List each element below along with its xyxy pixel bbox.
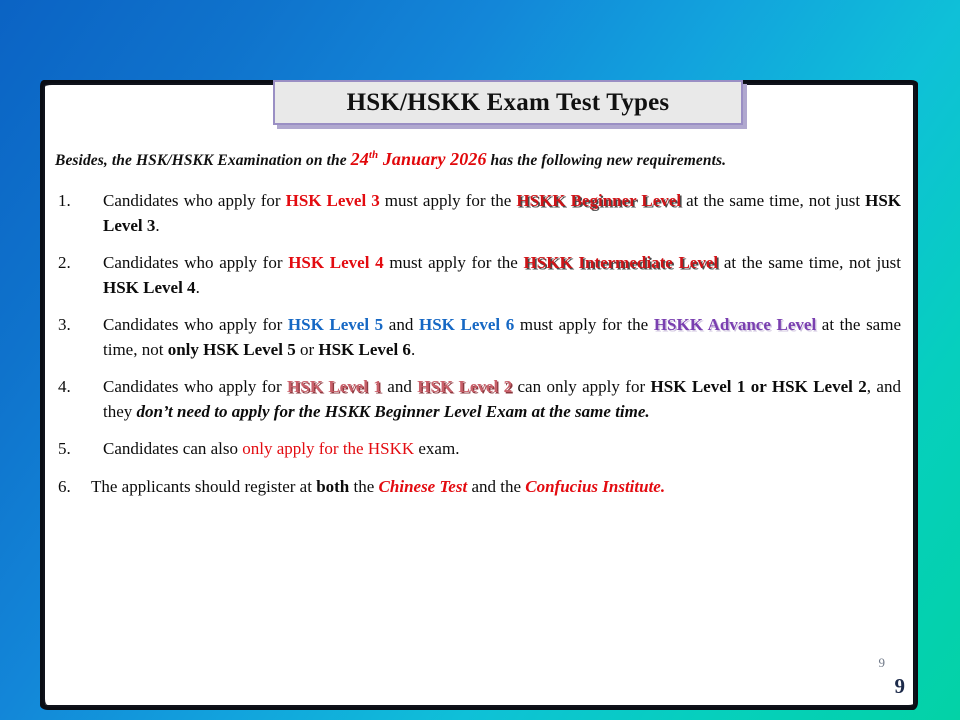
text-run: and the bbox=[467, 477, 525, 496]
date-rest: January 2026 bbox=[378, 149, 486, 169]
text-run: must apply for the bbox=[380, 191, 517, 210]
text-run: Candidates who apply for bbox=[103, 253, 288, 272]
text-run: the bbox=[349, 477, 378, 496]
date-ordinal-suffix: th bbox=[369, 149, 378, 161]
text-run: Candidates who apply for bbox=[103, 377, 287, 396]
page-number-small: 9 bbox=[879, 655, 886, 671]
list-item-text: Candidates who apply for HSK Level 1 and… bbox=[103, 375, 901, 424]
requirements-list: 1.Candidates who apply for HSK Level 3 m… bbox=[55, 189, 901, 499]
text-run: at the same time, not just bbox=[681, 191, 865, 210]
text-run: exam. bbox=[414, 439, 459, 458]
list-item: 5.Candidates can also only apply for the… bbox=[55, 437, 901, 462]
text-run: both bbox=[316, 477, 349, 496]
text-run: and bbox=[382, 377, 417, 396]
list-item: 6.The applicants should register at both… bbox=[55, 475, 901, 500]
text-run: must apply for the bbox=[514, 315, 654, 334]
intro-before: Besides, the HSK/HSKK Examination on the bbox=[55, 152, 351, 169]
list-item-text: Candidates who apply for HSK Level 5 and… bbox=[103, 313, 901, 362]
text-run: Chinese Test bbox=[379, 477, 468, 496]
text-run: Candidates who apply for bbox=[103, 191, 286, 210]
text-run: The applicants should register at bbox=[91, 477, 316, 496]
slide-title-plate: HSK/HSKK Exam Test Types bbox=[273, 80, 743, 125]
text-run: HSKK Beginner Level bbox=[516, 191, 681, 210]
text-run: HSK Level 6 bbox=[419, 315, 514, 334]
slide-body: Besides, the HSK/HSKK Examination on the… bbox=[55, 145, 901, 512]
list-item-number: 1. bbox=[55, 189, 103, 238]
text-run: and bbox=[383, 315, 419, 334]
text-run: Confucius Institute. bbox=[525, 477, 665, 496]
text-run: HSKK Advance Level bbox=[654, 315, 816, 334]
text-run: . bbox=[196, 278, 200, 297]
text-run: HSK Level 5 bbox=[288, 315, 383, 334]
text-run: HSK Level 5 bbox=[203, 340, 296, 359]
text-run: . bbox=[411, 340, 415, 359]
text-run: HSK Level 4 bbox=[288, 253, 383, 272]
text-run: HSK Level 3 bbox=[286, 191, 380, 210]
text-run: . bbox=[155, 216, 159, 235]
list-item: 3.Candidates who apply for HSK Level 5 a… bbox=[55, 313, 901, 362]
date-number: 24 bbox=[351, 149, 369, 169]
slide-card: HSK/HSKK Exam Test Types Besides, the HS… bbox=[45, 85, 913, 705]
text-run: can only apply for bbox=[512, 377, 650, 396]
list-item-number: 2. bbox=[55, 251, 103, 300]
text-run: only bbox=[168, 340, 199, 359]
text-run: HSK Level 6 bbox=[318, 340, 411, 359]
text-run: Candidates can also bbox=[103, 439, 242, 458]
text-run: only apply for the HSKK bbox=[242, 439, 414, 458]
page-title: HSK/HSKK Exam Test Types bbox=[347, 89, 670, 117]
intro-after: has the following new requirements. bbox=[487, 152, 727, 169]
text-run: HSK Level 1 bbox=[287, 377, 382, 396]
text-run: HSKK Intermediate Level bbox=[524, 253, 719, 272]
list-item-number: 6. bbox=[55, 475, 91, 500]
list-item: 2.Candidates who apply for HSK Level 4 m… bbox=[55, 251, 901, 300]
text-run: don’t need to apply for the HSKK Beginne… bbox=[137, 402, 650, 421]
text-run: must apply for the bbox=[384, 253, 524, 272]
list-item-number: 4. bbox=[55, 375, 103, 424]
page-number-large: 9 bbox=[895, 674, 906, 699]
list-item: 4.Candidates who apply for HSK Level 1 a… bbox=[55, 375, 901, 424]
text-run: Candidates who apply for bbox=[103, 315, 288, 334]
text-run: HSK Level 4 bbox=[103, 278, 196, 297]
text-run: or bbox=[296, 340, 319, 359]
text-run: at the same time, not just bbox=[718, 253, 901, 272]
exam-date: 24th January 2026 bbox=[351, 149, 487, 169]
intro-paragraph: Besides, the HSK/HSKK Examination on the… bbox=[55, 145, 901, 171]
list-item-text: Candidates who apply for HSK Level 4 mus… bbox=[103, 251, 901, 300]
list-item-number: 5. bbox=[55, 437, 103, 462]
list-item-text: The applicants should register at both t… bbox=[91, 475, 901, 500]
text-run: HSK Level 2 bbox=[417, 377, 512, 396]
list-item-text: Candidates who apply for HSK Level 3 mus… bbox=[103, 189, 901, 238]
text-run: HSK Level 1 or HSK Level 2 bbox=[651, 377, 867, 396]
list-item-number: 3. bbox=[55, 313, 103, 362]
list-item: 1.Candidates who apply for HSK Level 3 m… bbox=[55, 189, 901, 238]
list-item-text: Candidates can also only apply for the H… bbox=[103, 437, 901, 462]
